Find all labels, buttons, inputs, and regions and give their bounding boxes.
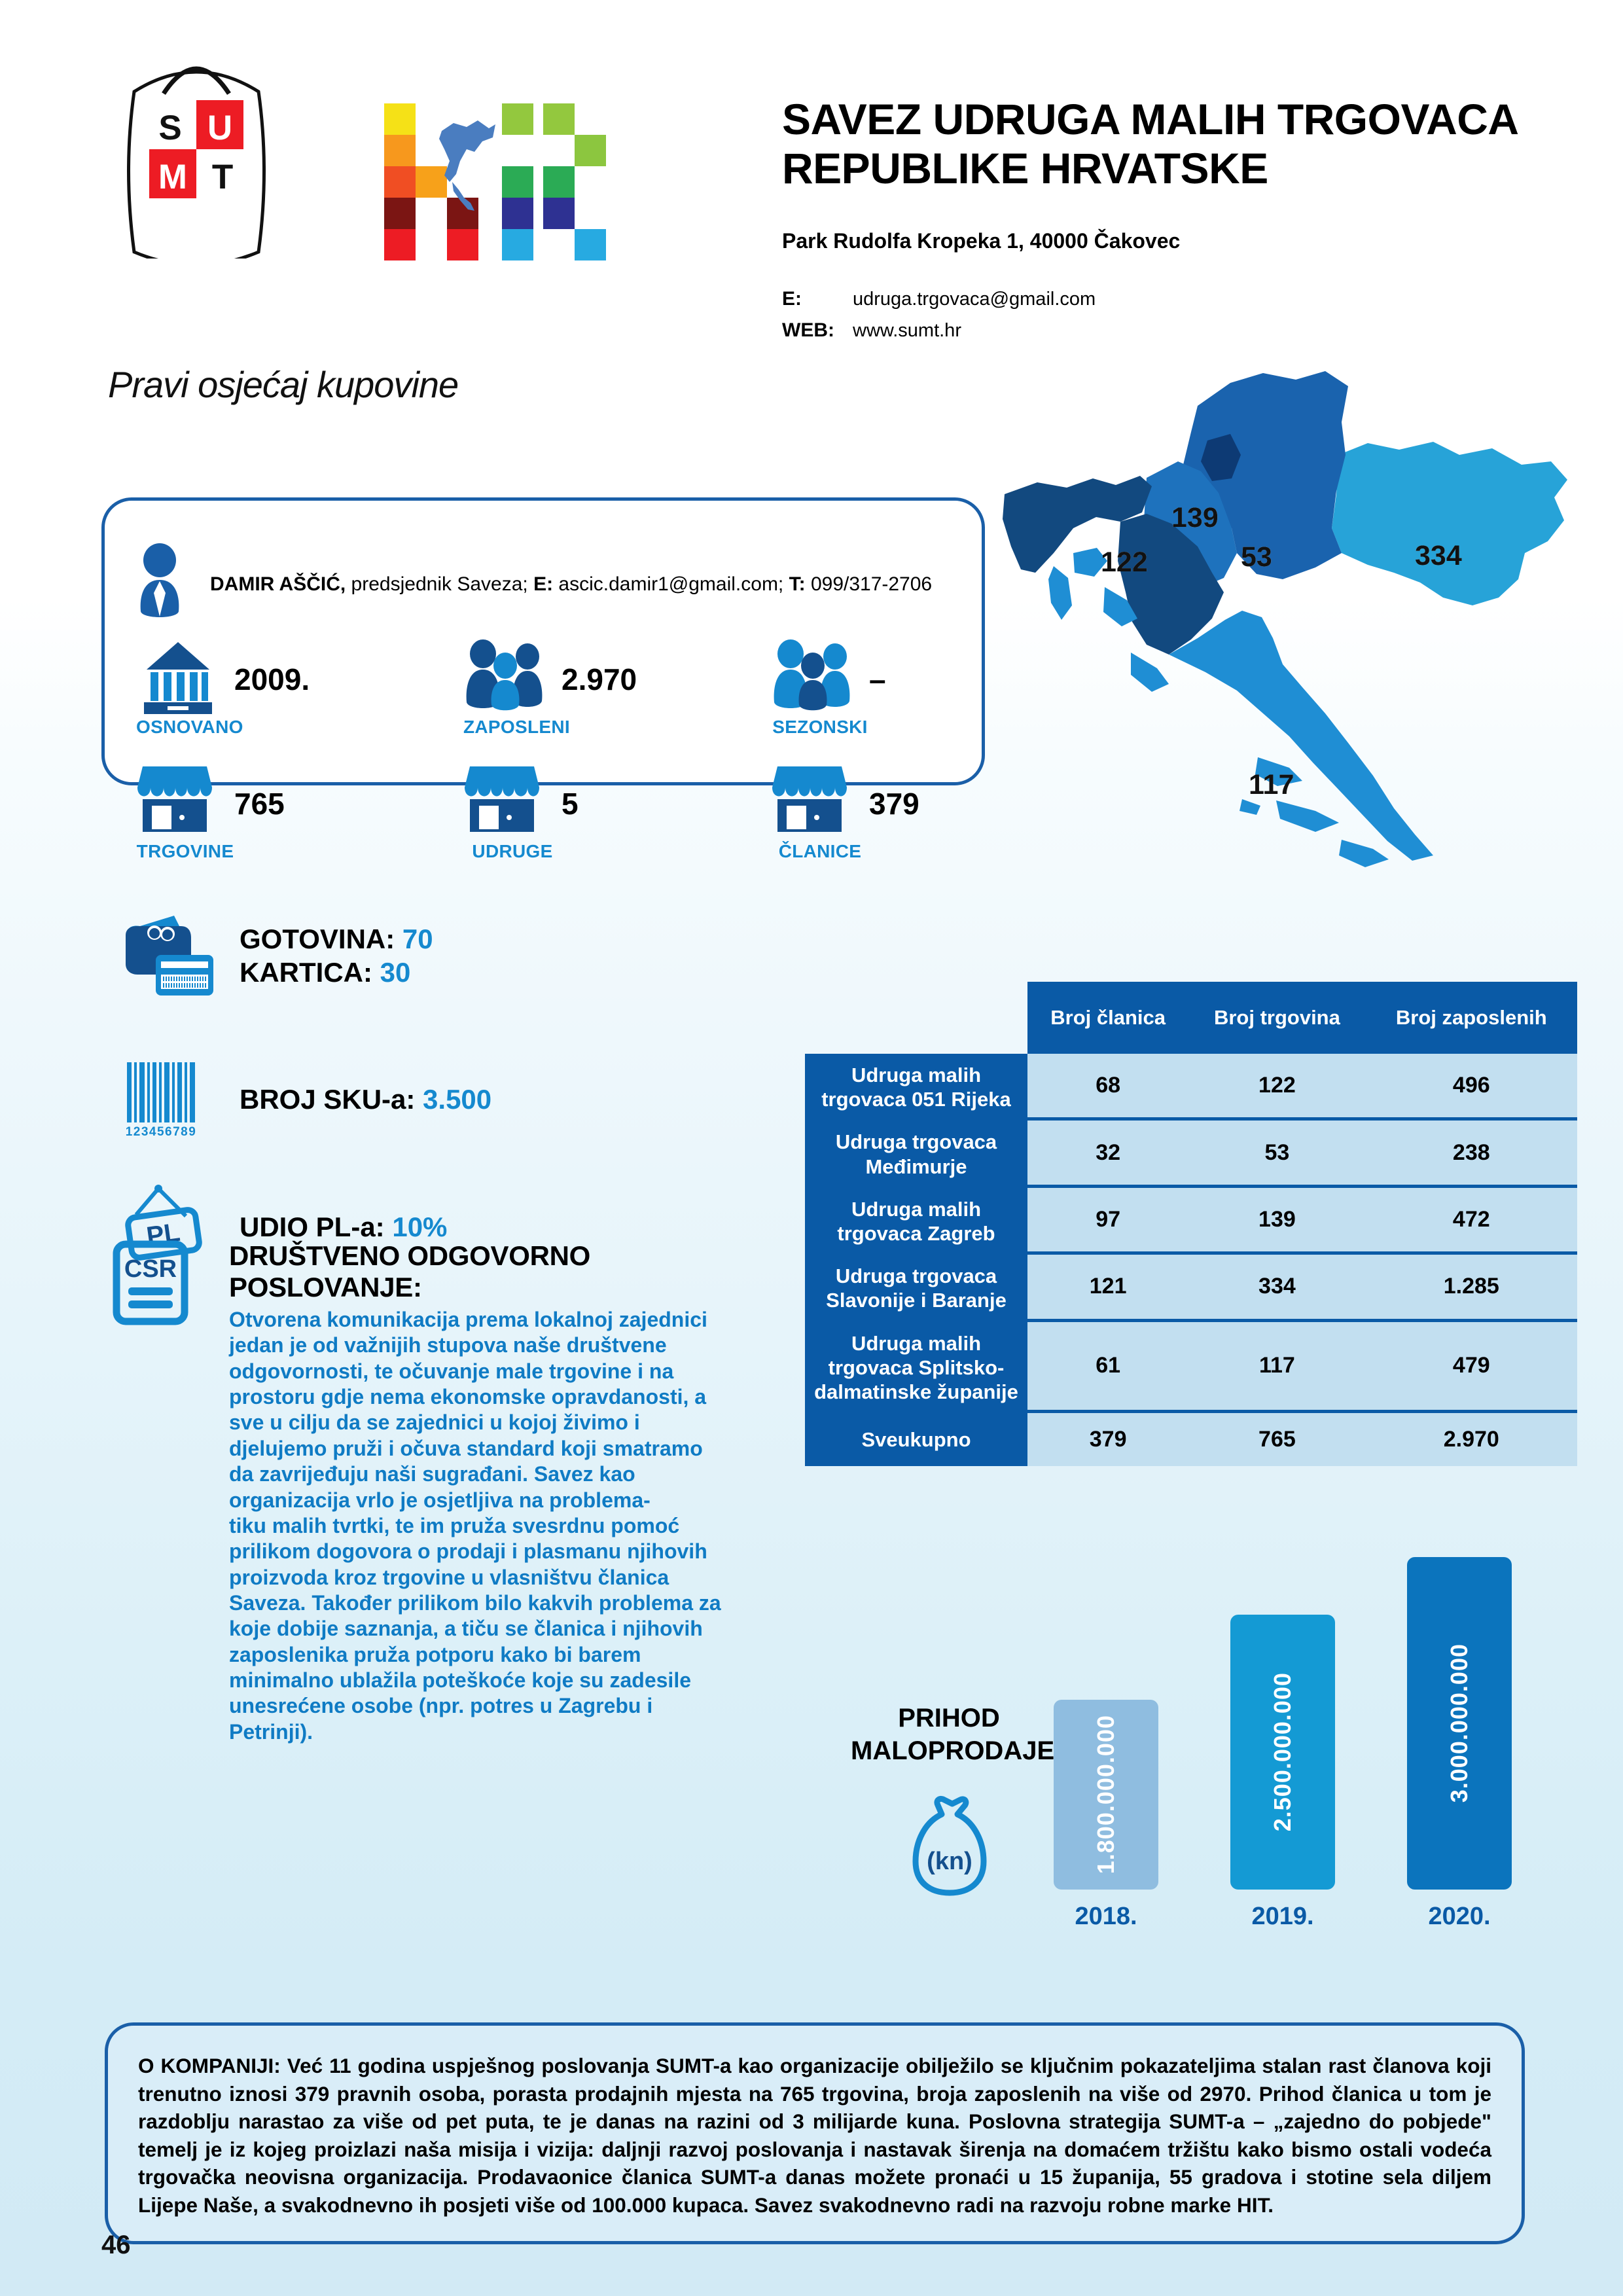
shop-icon [463,762,547,840]
island-hvar [1276,800,1339,832]
currency-label: (kn) [927,1848,972,1875]
bar-category-label: 2020. [1428,1903,1490,1931]
table-cell: 53 [1188,1121,1365,1187]
table-cell: 379 [1027,1413,1188,1466]
stat-udruge: 5 UDRUGE [463,762,579,840]
svg-text:CSR: CSR [124,1255,177,1283]
bar-2020: 3.000.000.000 [1407,1557,1512,1890]
stat-caption: TRGOVINE [136,841,234,862]
page-number: 46 [101,2231,131,2260]
map-label-zagreb: 139 [1171,502,1219,534]
president-name: DAMIR AŠČIĆ, [210,573,346,595]
bar-column-2018: 1.800.000.000 2018. [1054,1700,1158,1931]
table-total-row: Sveukupno 379 765 2.970 [805,1413,1577,1466]
web-row: WEB: www.sumt.hr [782,319,1096,342]
kartica-line: KARTICA: 30 [240,956,433,989]
stat-caption: OSNOVANO [136,717,234,738]
about-lead: O KOMPANIJI: [138,2054,281,2077]
gotovina-line: GOTOVINA: 70 [240,922,433,956]
table-row-label: Udruga malih trgovaca Splitsko-dalmatins… [805,1322,1027,1414]
table-cell: 238 [1366,1121,1577,1187]
table-cell: 472 [1366,1188,1577,1255]
bar-2019: 2.500.000.000 [1230,1615,1335,1890]
region-slavonija [1332,442,1567,605]
csr-paragraph-2: tiku malih tvrtki, te im pruža svesrdnu … [229,1513,726,1745]
map-label-medimurje: 53 [1241,541,1272,573]
org-address: Park Rudolfa Kropeka 1, 40000 Čakovec [782,229,1180,253]
table-cell: 496 [1366,1054,1577,1121]
svg-text:T: T [212,158,233,196]
stat-value: 2009. [234,662,310,697]
table-cell: 121 [1027,1255,1188,1321]
web-label: WEB: [782,319,853,342]
stat-zaposleni: 2.970 ZAPOSLENI [463,638,637,715]
table-col-trgovina: Broj trgovina [1188,982,1365,1054]
bank-icon [136,638,220,715]
table-row-label: Udruga malih trgovaca 051 Rijeka [805,1054,1027,1121]
table-row-label: Sveukupno [805,1413,1027,1466]
revenue-bar-chart: PRIHOD MALOPRODAJE (kn) 1.800.000.000 20… [838,1512,1571,1931]
email-label: E: [782,288,853,310]
president-details: DAMIR AŠČIĆ, predsjednik Saveza; E: asci… [210,573,932,596]
table-header-row: Broj članica Broj trgovina Broj zaposlen… [805,982,1577,1054]
stat-value: 379 [869,786,919,821]
table-corner-cell [805,982,1027,1054]
email-value[interactable]: udruga.trgovaca@gmail.com [853,289,1096,310]
about-company-box: O KOMPANIJI: Već 11 godina uspješnog pos… [105,2022,1525,2244]
map-label-slavonija: 334 [1415,540,1462,572]
bar-value-label: 2.500.000.000 [1269,1672,1296,1831]
stat-value: – [869,662,886,697]
stat-value: 2.970 [562,662,637,697]
payment-split-text: GOTOVINA: 70 KARTICA: 30 [240,922,433,989]
stat-caption: SEZONSKI [771,717,869,738]
hit-logo [376,98,625,262]
chart-bars: 1.800.000.000 2018. 2.500.000.000 2019. … [1054,1512,1571,1931]
chart-title-line2: MALOPRODAJE [851,1734,1047,1767]
payment-split-row: GOTOVINA: 70 KARTICA: 30 [118,906,433,1005]
svg-text:U: U [207,109,232,147]
org-title-line2: REPUBLIKE HRVATSKE [782,144,1580,193]
sku-text: BROJ SKU-a: 3.500 [240,1083,491,1116]
table-row: Udruga malih trgovaca 051 Rijeka 68 122 … [805,1054,1577,1121]
croatia-map-svg [975,357,1584,900]
slogan: Pravi osjećaj kupovine [108,363,458,406]
island-vis [1240,799,1260,815]
table-cell: 334 [1188,1255,1365,1321]
bar-2018: 1.800.000.000 [1054,1700,1158,1890]
table-row-label: Udruga malih trgovaca Zagreb [805,1188,1027,1255]
csr-heading: DRUŠTVENO ODGOVORNO POSLOVANJE: [229,1240,726,1303]
stat-caption: UDRUGE [463,841,562,862]
stat-trgovine: 765 TRGOVINE [136,762,285,840]
email-row: E: udruga.trgovaca@gmail.com [782,288,1096,310]
contact-block: E: udruga.trgovaca@gmail.com WEB: www.su… [782,288,1096,351]
stat-caption: ZAPOSLENI [463,717,562,738]
table-cell: 2.970 [1366,1413,1577,1466]
table-cell: 479 [1366,1322,1577,1414]
table-row: Udruga malih trgovaca Zagreb 97 139 472 [805,1188,1577,1255]
shop-icon [136,762,220,840]
money-bag-icon: (kn) [906,1793,991,1898]
sku-row: 123456789 BROJ SKU-a: 3.500 [118,1050,491,1149]
web-value[interactable]: www.sumt.hr [853,320,961,342]
sumt-logo: S U M T [98,56,294,259]
stat-value: 5 [562,786,579,821]
croatia-map: 139 53 334 122 117 [975,357,1584,900]
csr-body: DRUŠTVENO ODGOVORNO POSLOVANJE: Otvorena… [229,1240,726,1745]
table-cell: 765 [1188,1413,1365,1466]
island-cres [1048,566,1072,620]
table-cell: 32 [1027,1121,1188,1187]
svg-text:M: M [158,158,187,196]
chart-title: PRIHOD MALOPRODAJE [851,1702,1047,1767]
chart-title-line1: PRIHOD [851,1702,1047,1734]
president-phone-label: T: [789,573,806,595]
wallet-card-icon [118,906,216,1005]
stat-clanice: 379 ČLANICE [771,762,919,840]
table-cell: 117 [1188,1322,1365,1414]
csr-block: CSR DRUŠTVENO ODGOVORNO POSLOVANJE: Otvo… [111,1240,726,1745]
pl-text: UDIO PL-a: 10% [240,1210,447,1244]
barcode-icon: 123456789 [118,1050,216,1149]
stat-caption: ČLANICE [771,841,869,862]
page-title: SAVEZ UDRUGA MALIH TRGOVACA REPUBLIKE HR… [782,95,1580,192]
island-korcula [1339,840,1389,867]
barcode-digits: 123456789 [126,1125,197,1139]
table-row-label: Udruga trgovaca Međimurje [805,1121,1027,1187]
president-phone[interactable]: 099/317-2706 [806,573,933,595]
person-icon [134,543,185,625]
sku-line: BROJ SKU-a: 3.500 [240,1083,491,1116]
shop-icon [771,762,855,840]
about-text: Već 11 godina uspješnog poslovanja SUMT-… [138,2054,1491,2217]
csr-paragraph-1: Otvorena komunikacija prema lokalnoj zaj… [229,1307,726,1513]
president-email[interactable]: ascic.damir1@gmail.com; [553,573,789,595]
bar-value-label: 3.000.000.000 [1446,1643,1473,1803]
president-email-label: E: [533,573,553,595]
table-cell: 122 [1188,1054,1365,1121]
csr-document-icon: CSR [111,1240,196,1332]
table-cell: 1.285 [1366,1255,1577,1321]
table-row: Udruga trgovaca Slavonije i Baranje 121 … [805,1255,1577,1321]
table-row: Udruga malih trgovaca Splitsko-dalmatins… [805,1322,1577,1414]
people-icon [463,638,547,715]
president-row: DAMIR AŠČIĆ, predsjednik Saveza; E: asci… [134,543,932,625]
table-row-label: Udruga trgovaca Slavonije i Baranje [805,1255,1027,1321]
associations-table: Broj članica Broj trgovina Broj zaposlen… [805,982,1577,1466]
table-cell: 97 [1027,1188,1188,1255]
stat-osnovano: 2009. OSNOVANO [136,638,310,715]
bar-category-label: 2018. [1075,1903,1137,1931]
pl-line: UDIO PL-a: 10% [240,1210,447,1244]
map-label-split: 117 [1249,769,1294,801]
table-cell: 68 [1027,1054,1188,1121]
about-paragraph: O KOMPANIJI: Već 11 godina uspješnog pos… [138,2052,1491,2219]
table-row: Udruga trgovaca Međimurje 32 53 238 [805,1121,1577,1187]
bar-column-2019: 2.500.000.000 2019. [1230,1615,1335,1931]
table-cell: 139 [1188,1188,1365,1255]
bar-value-label: 1.800.000.000 [1092,1715,1120,1874]
island-dugi-otok [1131,653,1169,692]
bar-category-label: 2019. [1251,1903,1313,1931]
table-col-zaposlenih: Broj zaposlenih [1366,982,1577,1054]
people-light-icon [771,638,855,715]
map-label-rijeka: 122 [1101,547,1148,579]
org-title-line1: SAVEZ UDRUGA MALIH TRGOVACA [782,95,1580,144]
table-col-clanica: Broj članica [1027,982,1188,1054]
table-cell: 61 [1027,1322,1188,1414]
svg-text:S: S [158,109,181,147]
bar-column-2020: 3.000.000.000 2020. [1407,1557,1512,1931]
stat-sezonski: – SEZONSKI [771,638,886,715]
president-role: predsjednik Saveza; [346,573,533,595]
stat-value: 765 [234,786,285,821]
